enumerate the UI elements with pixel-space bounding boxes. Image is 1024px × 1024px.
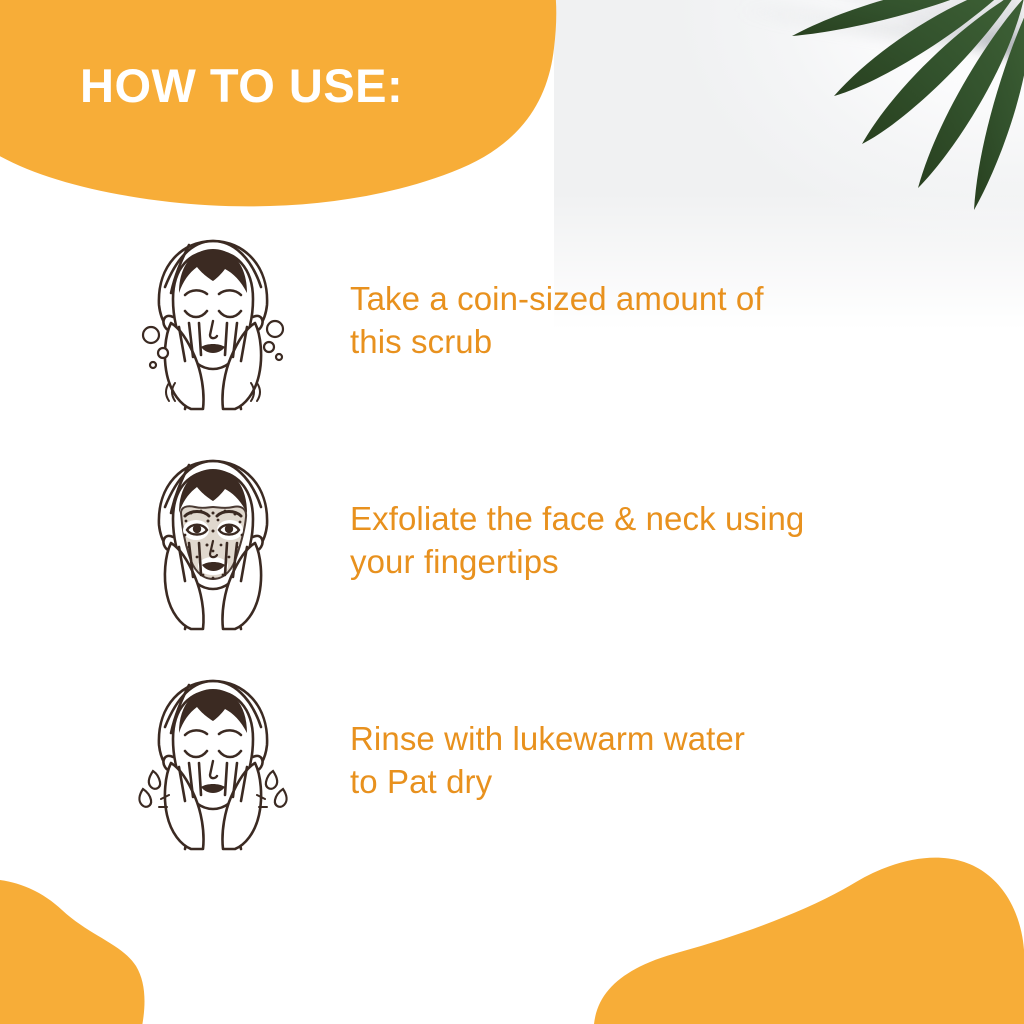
step-text-line: this scrub — [350, 321, 950, 364]
bottom-left-blob — [0, 874, 210, 1024]
step-text-line: Rinse with lukewarm water — [350, 718, 950, 761]
step-text-line: Take a coin-sized amount of — [350, 278, 950, 321]
step-text-line: Exfoliate the face & neck using — [350, 498, 950, 541]
palm-leaf-shadow — [885, 0, 1024, 72]
step-text: Rinse with lukewarm water to Pat dry — [350, 718, 950, 804]
list-item: Rinse with lukewarm water to Pat dry — [0, 668, 1024, 854]
page-title: HOW TO USE: — [80, 60, 403, 112]
step-text: Exfoliate the face & neck using your fin… — [350, 498, 950, 584]
face-rinse-icon — [128, 668, 298, 854]
face-exfoliate-icon — [128, 448, 298, 634]
header-blob — [0, 0, 610, 230]
list-item: Take a coin-sized amount of this scrub — [0, 228, 1024, 414]
palm-leaf-shadow — [735, 0, 1024, 61]
palm-leaf-shadow — [795, 0, 1024, 71]
palm-leaf-shadow — [981, 0, 1024, 68]
palm-leaf-shadow — [936, 0, 1024, 71]
how-to-use-poster: HOW TO USE: — [0, 0, 1024, 1024]
face-apply-scrub-icon — [128, 228, 298, 414]
palm-leaf-shadow — [836, 0, 1024, 73]
step-text-line: your fingertips — [350, 541, 950, 584]
step-text: Take a coin-sized amount of this scrub — [350, 278, 950, 364]
list-item: Exfoliate the face & neck using your fin… — [0, 448, 1024, 634]
palm-leaf-shadow — [758, 0, 1024, 67]
steps-list: Take a coin-sized amount of this scrub — [0, 228, 1024, 888]
step-text-line: to Pat dry — [350, 761, 950, 804]
